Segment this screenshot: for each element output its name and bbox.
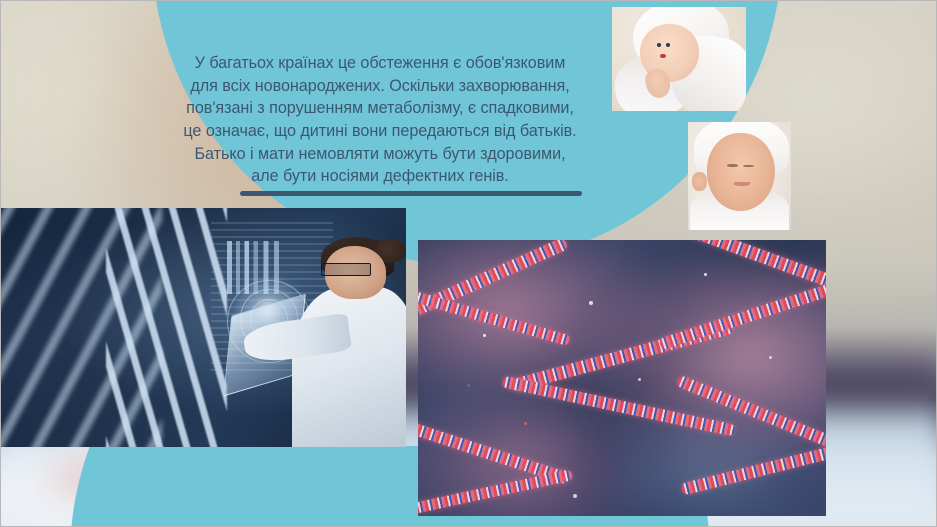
baby-mouth xyxy=(734,182,750,186)
particle-3 xyxy=(704,273,707,276)
particle-8 xyxy=(769,356,772,359)
particle-4 xyxy=(573,494,577,498)
baby-mouth xyxy=(660,54,666,58)
baby-eye-right xyxy=(666,43,670,46)
baby-eye-right xyxy=(743,165,754,168)
particle-7 xyxy=(467,384,470,387)
baby-eye-left xyxy=(657,43,661,46)
baby-eye-left xyxy=(727,164,738,167)
dna-pink-photo xyxy=(418,240,826,516)
body-paragraph: У багатьох країнах це обстеження є обов'… xyxy=(180,52,580,188)
slide-canvas: У багатьох країнах це обстеження є обов'… xyxy=(0,0,937,527)
baby-photo-sleeping xyxy=(688,122,791,230)
baby-hand xyxy=(692,172,706,191)
scientist-lab-coat xyxy=(292,287,406,447)
baby-face xyxy=(707,133,775,211)
baby-photo-awake xyxy=(612,7,746,111)
scientist-glasses xyxy=(321,263,372,276)
dna-strand-helix xyxy=(106,208,228,447)
dna-lab-photo xyxy=(0,208,406,447)
paragraph-underline-bar xyxy=(240,191,582,196)
